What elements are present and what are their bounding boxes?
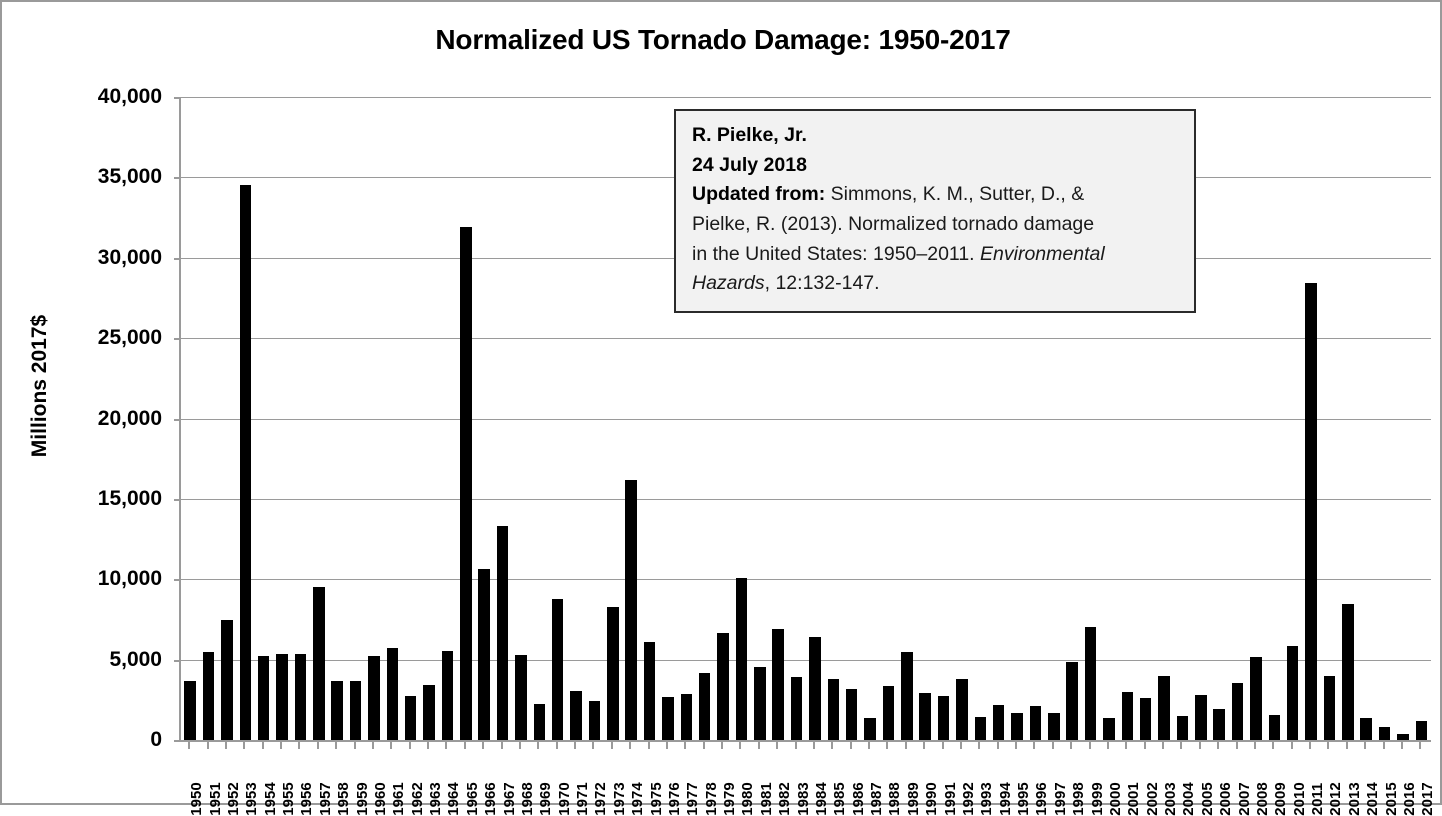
x-tick-slot	[1043, 740, 1061, 749]
x-tick-mark-1997	[1052, 740, 1054, 749]
bar-slot	[1412, 97, 1430, 740]
x-tick-slot	[528, 740, 546, 749]
x-tick-mark-2007	[1236, 740, 1238, 749]
x-tick-mark-1999	[1089, 740, 1091, 749]
x-tick-slot	[1373, 740, 1391, 749]
x-label-slot: 1953	[234, 749, 252, 805]
x-tick-slot	[932, 740, 950, 749]
x-label-slot: 1996	[1024, 749, 1042, 805]
bar-1959[interactable]	[350, 681, 361, 740]
x-tick-mark-2015	[1383, 740, 1385, 749]
bar-1953[interactable]	[240, 185, 251, 740]
x-tick-slot	[877, 740, 895, 749]
x-tick-mark-1970	[556, 740, 558, 749]
x-axis-ticks	[179, 740, 1429, 749]
x-tick-slot	[1153, 740, 1171, 749]
x-tick-mark-1951	[207, 740, 209, 749]
x-label-slot: 1971	[565, 749, 583, 805]
x-tick-slot	[234, 740, 252, 749]
x-label-slot: 1994	[988, 749, 1006, 805]
x-label-slot: 1983	[785, 749, 803, 805]
x-tick-mark-2002	[1144, 740, 1146, 749]
x-label-slot: 1978	[694, 749, 712, 805]
x-tick-slot	[400, 740, 418, 749]
x-tick-mark-1950	[188, 740, 190, 749]
x-label-slot: 1992	[951, 749, 969, 805]
x-label-slot: 1977	[675, 749, 693, 805]
annotation-source-line-4: Hazards, 12:132-147.	[692, 269, 1180, 299]
x-label-slot: 1950	[179, 749, 197, 805]
x-tick-mark-1986	[850, 740, 852, 749]
bar-slot	[199, 97, 217, 740]
x-tick-mark-1972	[592, 740, 594, 749]
x-label-slot: 2000	[1098, 749, 1116, 805]
x-label-slot: 1965	[455, 749, 473, 805]
x-label-slot: 1957	[308, 749, 326, 805]
x-tick-slot	[179, 740, 197, 749]
bar-2006[interactable]	[1213, 709, 1224, 740]
bar-1950[interactable]	[184, 681, 195, 740]
x-tick-slot	[197, 740, 215, 749]
x-tick-slot	[988, 740, 1006, 749]
x-tick-slot	[1282, 740, 1300, 749]
x-label-slot: 1999	[1079, 749, 1097, 805]
x-tick-slot	[1337, 740, 1355, 749]
x-label-slot: 1959	[344, 749, 362, 805]
x-tick-slot	[951, 740, 969, 749]
x-label-slot: 1987	[859, 749, 877, 805]
x-tick-mark-1965	[464, 740, 466, 749]
y-tick-label-10000: 10,000	[2, 567, 162, 591]
x-tick-slot	[638, 740, 656, 749]
bar-1977[interactable]	[681, 694, 692, 740]
bar-slot	[365, 97, 383, 740]
bar-1987[interactable]	[864, 718, 875, 740]
bar-slot	[1339, 97, 1357, 740]
x-tick-mark-2008	[1254, 740, 1256, 749]
bar-1991[interactable]	[938, 696, 949, 740]
bar-1975[interactable]	[644, 642, 655, 740]
x-tick-mark-1957	[317, 740, 319, 749]
x-tick-label-2017: 2017	[1419, 782, 1436, 815]
bar-slot	[218, 97, 236, 740]
x-label-slot: 1981	[749, 749, 767, 805]
x-tick-mark-1983	[795, 740, 797, 749]
x-tick-mark-2000	[1107, 740, 1109, 749]
x-tick-mark-1955	[280, 740, 282, 749]
y-tick-label-20000: 20,000	[2, 407, 162, 431]
annotation-date: 24 July 2018	[692, 151, 1180, 181]
bar-2002[interactable]	[1140, 698, 1151, 740]
x-label-slot: 1960	[363, 749, 381, 805]
bar-slot	[1302, 97, 1320, 740]
bar-1963[interactable]	[423, 685, 434, 740]
bar-1965[interactable]	[460, 227, 471, 740]
x-tick-mark-1989	[905, 740, 907, 749]
x-label-slot: 1982	[767, 749, 785, 805]
x-tick-mark-1979	[721, 740, 723, 749]
x-tick-slot	[1355, 740, 1373, 749]
x-tick-mark-2017	[1419, 740, 1421, 749]
y-tick-label-25000: 25,000	[2, 326, 162, 350]
bar-1972[interactable]	[589, 701, 600, 740]
bar-1976[interactable]	[662, 697, 673, 740]
x-tick-mark-1990	[923, 740, 925, 749]
x-tick-slot	[712, 740, 730, 749]
x-tick-slot	[969, 740, 987, 749]
x-label-slot: 2002	[1135, 749, 1153, 805]
x-tick-mark-1982	[776, 740, 778, 749]
bar-2017[interactable]	[1416, 721, 1427, 740]
bar-1954[interactable]	[258, 656, 269, 740]
x-label-slot: 2011	[1300, 749, 1318, 805]
y-tick-label-40000: 40,000	[2, 85, 162, 109]
x-tick-slot	[1098, 740, 1116, 749]
x-tick-mark-1998	[1070, 740, 1072, 749]
bar-2004[interactable]	[1177, 716, 1188, 740]
x-axis-labels: 1950195119521953195419551956195719581959…	[179, 749, 1429, 805]
y-tick-mark-5000	[174, 660, 181, 662]
x-tick-mark-2012	[1327, 740, 1329, 749]
x-tick-mark-1958	[335, 740, 337, 749]
x-label-slot: 1974	[620, 749, 638, 805]
x-tick-slot	[436, 740, 454, 749]
bar-1994[interactable]	[993, 705, 1004, 740]
x-label-slot: 2010	[1282, 749, 1300, 805]
bar-slot	[549, 97, 567, 740]
x-tick-mark-1959	[354, 740, 356, 749]
bar-slot	[640, 97, 658, 740]
x-tick-mark-1968	[519, 740, 521, 749]
x-label-slot: 2001	[1116, 749, 1134, 805]
x-tick-slot	[1190, 740, 1208, 749]
x-label-slot: 1995	[1006, 749, 1024, 805]
bar-1981[interactable]	[754, 667, 765, 740]
x-label-slot: 1970	[547, 749, 565, 805]
x-tick-mark-1969	[537, 740, 539, 749]
x-label-slot: 1969	[528, 749, 546, 805]
bar-1982[interactable]	[772, 629, 783, 740]
bar-1985[interactable]	[828, 679, 839, 740]
bar-slot	[512, 97, 530, 740]
x-tick-slot	[455, 740, 473, 749]
x-tick-slot	[675, 740, 693, 749]
bar-slot	[310, 97, 328, 740]
x-tick-mark-1996	[1033, 740, 1035, 749]
x-tick-slot	[418, 740, 436, 749]
x-tick-mark-1960	[372, 740, 374, 749]
x-label-slot: 1976	[657, 749, 675, 805]
bar-2000[interactable]	[1103, 718, 1114, 740]
bar-slot	[328, 97, 346, 740]
y-tick-mark-25000	[174, 338, 181, 340]
bar-1988[interactable]	[883, 686, 894, 740]
y-tick-mark-10000	[174, 579, 181, 581]
x-tick-slot	[1006, 740, 1024, 749]
x-label-slot: 1990	[914, 749, 932, 805]
bar-2011[interactable]	[1305, 283, 1316, 740]
bar-1980[interactable]	[736, 578, 747, 740]
x-label-slot: 1988	[877, 749, 895, 805]
x-tick-mark-1991	[942, 740, 944, 749]
bar-2008[interactable]	[1250, 657, 1261, 740]
bar-slot	[1394, 97, 1412, 740]
x-label-slot: 1964	[436, 749, 454, 805]
x-tick-mark-2013	[1346, 740, 1348, 749]
x-label-slot: 1962	[400, 749, 418, 805]
x-tick-mark-2010	[1291, 740, 1293, 749]
bar-2010[interactable]	[1287, 646, 1298, 740]
x-tick-mark-2014	[1364, 740, 1366, 749]
x-tick-mark-1961	[390, 740, 392, 749]
x-tick-mark-2003	[1162, 740, 1164, 749]
y-tick-label-0: 0	[2, 728, 162, 752]
bar-2007[interactable]	[1232, 683, 1243, 740]
x-tick-mark-1974	[629, 740, 631, 749]
x-tick-slot	[767, 740, 785, 749]
bar-2013[interactable]	[1342, 604, 1353, 740]
x-tick-slot	[583, 740, 601, 749]
bar-1971[interactable]	[570, 691, 581, 740]
x-label-slot: 1973	[602, 749, 620, 805]
annotation-source-line-2: Pielke, R. (2013). Normalized tornado da…	[692, 210, 1180, 240]
bar-1983[interactable]	[791, 677, 802, 740]
y-tick-mark-30000	[174, 258, 181, 260]
bar-1970[interactable]	[552, 599, 563, 740]
x-label-slot: 2005	[1190, 749, 1208, 805]
x-label-slot: 2003	[1153, 749, 1171, 805]
x-tick-slot	[896, 740, 914, 749]
bar-slot	[1247, 97, 1265, 740]
x-label-slot: 2006	[1208, 749, 1226, 805]
bar-1955[interactable]	[276, 654, 287, 740]
x-tick-slot	[602, 740, 620, 749]
bar-slot	[1320, 97, 1338, 740]
x-label-slot: 1984	[804, 749, 822, 805]
x-tick-mark-2011	[1309, 740, 1311, 749]
x-label-slot: 1993	[969, 749, 987, 805]
bar-1973[interactable]	[607, 607, 618, 740]
x-tick-slot	[1024, 740, 1042, 749]
x-tick-mark-1964	[445, 740, 447, 749]
x-tick-mark-1994	[997, 740, 999, 749]
bar-slot	[438, 97, 456, 740]
annotation-box: R. Pielke, Jr. 24 July 2018 Updated from…	[674, 109, 1196, 313]
bar-1990[interactable]	[919, 693, 930, 740]
bar-1969[interactable]	[534, 704, 545, 740]
x-tick-slot	[510, 740, 528, 749]
x-tick-mark-1988	[886, 740, 888, 749]
x-tick-slot	[1135, 740, 1153, 749]
x-tick-mark-1984	[813, 740, 815, 749]
x-tick-slot	[841, 740, 859, 749]
bar-2012[interactable]	[1324, 676, 1335, 740]
x-tick-slot	[749, 740, 767, 749]
y-tick-mark-40000	[174, 97, 181, 99]
bar-1986[interactable]	[846, 689, 857, 740]
x-label-slot: 1966	[473, 749, 491, 805]
x-tick-slot	[804, 740, 822, 749]
x-tick-slot	[657, 740, 675, 749]
x-tick-slot	[785, 740, 803, 749]
bar-1984[interactable]	[809, 637, 820, 740]
x-tick-slot	[1226, 740, 1244, 749]
bar-slot	[1265, 97, 1283, 740]
bar-slot	[346, 97, 364, 740]
bar-1966[interactable]	[478, 569, 489, 740]
bar-slot	[567, 97, 585, 740]
bar-2014[interactable]	[1360, 718, 1371, 740]
x-tick-mark-1952	[225, 740, 227, 749]
bar-2003[interactable]	[1158, 676, 1169, 740]
bar-1998[interactable]	[1066, 662, 1077, 740]
x-tick-mark-1993	[978, 740, 980, 749]
x-tick-mark-1963	[427, 740, 429, 749]
bar-1961[interactable]	[387, 648, 398, 740]
x-label-slot: 1997	[1043, 749, 1061, 805]
bar-2005[interactable]	[1195, 695, 1206, 740]
bar-2009[interactable]	[1269, 715, 1280, 740]
x-tick-mark-1976	[666, 740, 668, 749]
x-tick-slot	[1318, 740, 1336, 749]
x-tick-slot	[363, 740, 381, 749]
bar-1992[interactable]	[956, 679, 967, 740]
x-tick-slot	[565, 740, 583, 749]
x-tick-slot	[326, 740, 344, 749]
x-label-slot: 1986	[841, 749, 859, 805]
bar-1989[interactable]	[901, 652, 912, 740]
x-label-slot: 2016	[1392, 749, 1410, 805]
x-tick-slot	[491, 740, 509, 749]
bar-slot	[1357, 97, 1375, 740]
x-label-slot: 1951	[197, 749, 215, 805]
x-label-slot: 1967	[491, 749, 509, 805]
bar-1957[interactable]	[313, 587, 324, 740]
x-tick-mark-1987	[868, 740, 870, 749]
x-tick-mark-1981	[758, 740, 760, 749]
x-tick-mark-1992	[960, 740, 962, 749]
x-label-slot: 2013	[1337, 749, 1355, 805]
x-label-slot: 1985	[822, 749, 840, 805]
bar-slot	[457, 97, 475, 740]
x-tick-slot	[1171, 740, 1189, 749]
x-tick-slot	[253, 740, 271, 749]
x-label-slot: 1975	[638, 749, 656, 805]
x-label-slot: 1998	[1061, 749, 1079, 805]
x-tick-slot	[473, 740, 491, 749]
bar-2001[interactable]	[1122, 692, 1133, 740]
x-tick-slot	[344, 740, 362, 749]
x-tick-slot	[271, 740, 289, 749]
x-tick-slot	[730, 740, 748, 749]
x-tick-slot	[822, 740, 840, 749]
x-tick-mark-1973	[611, 740, 613, 749]
bar-1979[interactable]	[717, 633, 728, 740]
x-label-slot: 2007	[1226, 749, 1244, 805]
x-tick-mark-1985	[831, 740, 833, 749]
bar-1993[interactable]	[975, 717, 986, 740]
bar-1974[interactable]	[625, 480, 636, 740]
annotation-source-line-1: Updated from: Simmons, K. M., Sutter, D.…	[692, 180, 1180, 210]
x-tick-mark-2006	[1217, 740, 1219, 749]
bar-1956[interactable]	[295, 654, 306, 740]
x-tick-slot	[694, 740, 712, 749]
bar-1978[interactable]	[699, 673, 710, 741]
x-tick-mark-2016	[1401, 740, 1403, 749]
bar-1996[interactable]	[1030, 706, 1041, 740]
bar-slot	[622, 97, 640, 740]
x-label-slot: 1972	[583, 749, 601, 805]
x-label-slot: 2014	[1355, 749, 1373, 805]
bar-2015[interactable]	[1379, 727, 1390, 740]
x-label-slot: 1958	[326, 749, 344, 805]
bar-1967[interactable]	[497, 526, 508, 740]
x-tick-slot	[1410, 740, 1428, 749]
chart-title: Normalized US Tornado Damage: 1950-2017	[2, 24, 1442, 56]
x-tick-slot	[1300, 740, 1318, 749]
bar-1962[interactable]	[405, 696, 416, 740]
y-tick-label-5000: 5,000	[2, 648, 162, 672]
bar-1958[interactable]	[331, 681, 342, 740]
annotation-author: R. Pielke, Jr.	[692, 121, 1180, 151]
bar-slot	[1375, 97, 1393, 740]
bar-1960[interactable]	[368, 656, 379, 740]
x-label-slot: 2012	[1318, 749, 1336, 805]
bar-1968[interactable]	[515, 655, 526, 740]
x-label-slot: 1980	[730, 749, 748, 805]
x-tick-slot	[914, 740, 932, 749]
x-tick-slot	[547, 740, 565, 749]
bar-1997[interactable]	[1048, 713, 1059, 740]
bar-slot	[493, 97, 511, 740]
x-tick-mark-1995	[1015, 740, 1017, 749]
y-tick-label-15000: 15,000	[2, 487, 162, 511]
x-tick-mark-2009	[1272, 740, 1274, 749]
x-tick-mark-1953	[243, 740, 245, 749]
x-tick-slot	[1263, 740, 1281, 749]
x-label-slot: 1956	[289, 749, 307, 805]
bar-slot	[1210, 97, 1228, 740]
x-label-slot: 2009	[1263, 749, 1281, 805]
bar-1995[interactable]	[1011, 713, 1022, 740]
bar-1964[interactable]	[442, 651, 453, 740]
bar-slot	[530, 97, 548, 740]
bar-slot	[181, 97, 199, 740]
y-tick-label-35000: 35,000	[2, 165, 162, 189]
x-tick-mark-1977	[684, 740, 686, 749]
x-tick-mark-1954	[262, 740, 264, 749]
bar-slot	[236, 97, 254, 740]
x-tick-mark-2004	[1180, 740, 1182, 749]
x-tick-slot	[1245, 740, 1263, 749]
x-tick-slot	[1392, 740, 1410, 749]
x-label-slot: 2008	[1245, 749, 1263, 805]
bar-1952[interactable]	[221, 620, 232, 740]
bar-slot	[273, 97, 291, 740]
x-tick-mark-1971	[574, 740, 576, 749]
x-label-slot: 2017	[1410, 749, 1428, 805]
bar-slot	[255, 97, 273, 740]
x-tick-mark-1967	[501, 740, 503, 749]
bar-1951[interactable]	[203, 652, 214, 740]
bar-slot	[604, 97, 622, 740]
x-tick-slot	[1208, 740, 1226, 749]
y-tick-mark-35000	[174, 177, 181, 179]
bar-slot	[291, 97, 309, 740]
x-label-slot: 1955	[271, 749, 289, 805]
bar-1999[interactable]	[1085, 627, 1096, 740]
x-label-slot: 1991	[932, 749, 950, 805]
